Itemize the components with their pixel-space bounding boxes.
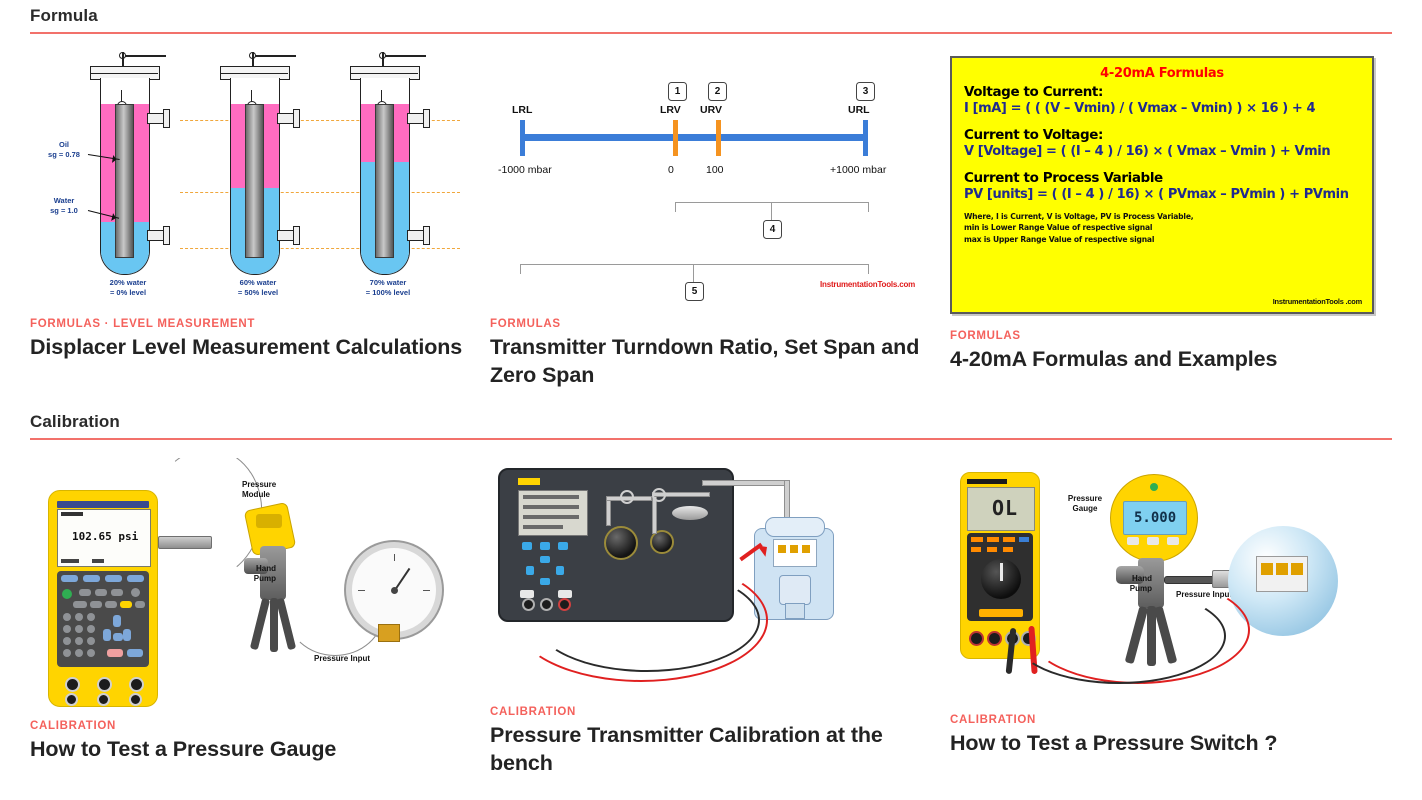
torque-arm-3 (382, 55, 426, 57)
vessel-caption-3-line1: 70% water (370, 278, 407, 287)
terminal-jack-4[interactable] (65, 693, 78, 706)
transmitter-housing-cap (765, 517, 825, 537)
terminal-screw-3 (802, 545, 810, 553)
title-420ma[interactable]: 4-20mA Formulas and Examples (950, 346, 1390, 374)
pump-leg-1 (250, 598, 270, 650)
display-softkey-1 (61, 559, 79, 563)
title-bench[interactable]: Pressure Transmitter Calibration at the … (490, 722, 930, 777)
panel-reservoir (672, 506, 708, 520)
vessel-caption-2-line1: 60% water (240, 278, 277, 287)
spacer-1 (964, 116, 1360, 127)
numpad-9[interactable] (87, 637, 95, 645)
vessel-caption-1: 20% water = 0% level (68, 278, 188, 298)
side-nozzle-cap-3 (423, 109, 430, 128)
terminal-screw-1 (778, 545, 786, 553)
card-420ma-formulas[interactable]: 4-20mA Formulas Voltage to Current: I [m… (950, 52, 1390, 374)
article-grid-page: Formula (0, 0, 1422, 800)
dmm-range-key-3[interactable] (1003, 547, 1013, 552)
calibrator-display: 102.65 psi (57, 509, 151, 567)
card-displacer-level-measurement[interactable]: 20% water = 0% level (30, 52, 470, 362)
label-pressure-module: PressureModule (242, 480, 302, 501)
numpad-dot[interactable] (75, 649, 83, 657)
numpad-6[interactable] (87, 625, 95, 633)
mode-key-3[interactable] (105, 601, 117, 608)
calibrator-brand-bar (57, 501, 149, 508)
gauge-tick-top (394, 554, 395, 561)
function-key-3[interactable] (111, 589, 123, 596)
switch-terminal-block (1256, 556, 1308, 592)
value-lrv: 0 (668, 164, 674, 176)
kicker-turndown: FORMULAS (490, 318, 930, 330)
numpad-5[interactable] (75, 625, 83, 633)
turndown-scale-diagram: 1 2 3 LRL LRV URV URL -1000 mbar (490, 52, 920, 307)
scale-line (520, 134, 868, 141)
gauge-hub (391, 587, 398, 594)
softkey-4[interactable] (127, 575, 144, 582)
numpad-8[interactable] (75, 637, 83, 645)
card-text-bench: CALIBRATION Pressure Transmitter Calibra… (490, 702, 930, 777)
dmm-model-plate (979, 609, 1023, 617)
callout-box-1: 1 (668, 82, 687, 101)
title-pressure-gauge[interactable]: How to Test a Pressure Gauge (30, 736, 470, 764)
brace-range-stem (693, 264, 694, 282)
terminal-jack-3[interactable] (129, 677, 144, 692)
dmm-func-key-2[interactable] (987, 537, 999, 542)
formula-current-to-voltage: V [Voltage] = ( (I – 4 ) / 16) × ( Vmax … (964, 144, 1360, 159)
board-title: 4-20mA Formulas (964, 66, 1360, 81)
vessel-caption-2-line2: = 50% level (238, 288, 278, 297)
terminal-jack-5[interactable] (97, 693, 110, 706)
gauge-button-3[interactable] (1167, 537, 1179, 545)
numpad-4[interactable] (63, 625, 71, 633)
kicker-pressure-switch: CALIBRATION (950, 714, 1390, 726)
callout-box-5: 5 (685, 282, 704, 301)
vessel-caption-1-line2: = 0% level (110, 288, 146, 297)
water-annotation-line1: Water (54, 196, 75, 205)
section-header-formula: Formula (30, 6, 1392, 34)
formula-current-to-pv: PV [units] = ( (I – 4 ) / 16) × ( PVmax … (964, 187, 1360, 202)
transmitter-process-connection (785, 603, 805, 619)
board-note-1: Where, I is Current, V is Voltage, PV is… (964, 211, 1360, 222)
value-lrl: -1000 mbar (498, 164, 552, 176)
displacer-diagram: 20% water = 0% level (30, 52, 460, 307)
displacer-vessel-2: 60% water = 50% level (206, 52, 310, 307)
numpad-2[interactable] (75, 613, 83, 621)
panel-display-row-3 (523, 515, 579, 519)
calibrator-keypad (57, 571, 149, 667)
thumbnail-bench-setup[interactable] (490, 458, 930, 702)
section-rule-formula (30, 32, 1392, 34)
watermark-board: InstrumentationTools .com (1273, 297, 1362, 306)
dmm-jack-2[interactable] (987, 631, 1002, 646)
panel-button-3[interactable] (558, 542, 568, 550)
vessel-neck-2 (230, 78, 280, 104)
enter-key[interactable] (127, 649, 143, 657)
numpad-sign[interactable] (87, 649, 95, 657)
function-key-1[interactable] (79, 589, 91, 596)
vessel-body-2 (230, 104, 280, 275)
top-flange-line-3 (350, 73, 418, 74)
title-pressure-switch[interactable]: How to Test a Pressure Switch ? (950, 730, 1390, 758)
title-displacer[interactable]: Displacer Level Measurement Calculations (30, 334, 470, 362)
label-pressure-gauge: PressureGauge (1062, 494, 1108, 515)
softkey-2[interactable] (83, 575, 100, 582)
supply-tube (702, 480, 790, 486)
vessel-caption-2: 60% water = 50% level (198, 278, 318, 298)
gauge-led (1150, 483, 1158, 491)
hanger-rod-top-3 (382, 52, 384, 66)
gauge-button-1[interactable] (1127, 537, 1139, 545)
dmm-brand (967, 479, 1007, 484)
brace-range (520, 264, 869, 274)
transmitter-terminal-block (773, 539, 817, 567)
label-urv: URV (700, 104, 722, 116)
brace-span-stem (771, 202, 772, 220)
vessel-caption-3: 70% water = 100% level (328, 278, 448, 298)
row-formula: 20% water = 0% level (0, 52, 1422, 392)
section-rule-calibration (30, 438, 1392, 440)
kicker-pressure-gauge: CALIBRATION (30, 720, 470, 732)
panel-port-2 (652, 488, 666, 502)
pressure-module-face (256, 514, 282, 528)
section-header-calibration: Calibration (30, 412, 1392, 440)
displacer-vessel-3: 70% water = 100% level (336, 52, 440, 307)
vessel-body-3 (360, 104, 410, 275)
terminal-jack-1[interactable] (65, 677, 80, 692)
nav-up[interactable] (113, 615, 121, 627)
hanger-rod-top-1 (122, 52, 124, 66)
module-connector (158, 536, 212, 549)
function-key-4[interactable] (131, 588, 140, 597)
water-annotation: Water sg = 1.0 (36, 196, 92, 216)
dmm-display: OL (967, 487, 1035, 531)
transmitter-body (779, 575, 811, 605)
row-calibration: 102.65 psi (0, 458, 1422, 800)
thumbnail-pressure-switch-setup[interactable]: OL (950, 458, 1390, 710)
fluke-process-calibrator: 102.65 psi (48, 490, 158, 707)
title-turndown[interactable]: Transmitter Turndown Ratio, Set Span and… (490, 334, 930, 389)
mode-key-2[interactable] (90, 601, 102, 608)
panel-port-1 (620, 490, 634, 504)
nav-down[interactable] (113, 633, 123, 641)
dmm-range-key-1[interactable] (971, 547, 981, 552)
scale-tick-urv (716, 120, 721, 156)
card-text-420ma: FORMULAS 4-20mA Formulas and Examples (950, 328, 1390, 374)
bottom-nozzle-cap-1 (163, 226, 170, 245)
gauge-button-2[interactable] (1147, 537, 1159, 545)
panel-display-row-4 (523, 525, 563, 529)
water-annotation-line2: sg = 1.0 (50, 206, 78, 215)
top-flange-line-1 (90, 73, 158, 74)
nav-left[interactable] (103, 629, 111, 641)
thumbnail-turndown-diagram[interactable]: 1 2 3 LRL LRV URV URL -1000 mbar (490, 52, 930, 314)
terminal-jack-2[interactable] (97, 677, 112, 692)
dmm-range-key-2[interactable] (987, 547, 997, 552)
vessel-caption-3-line2: = 100% level (366, 288, 410, 297)
vessel-neck-3 (360, 78, 410, 104)
brace-span (675, 202, 869, 212)
label-lrl: LRL (512, 104, 532, 116)
label-pressure-input: Pressure Input (314, 654, 370, 664)
dial-pointer (1000, 563, 1003, 581)
displacer-vessel-1: 20% water = 0% level (76, 52, 180, 307)
oil-annotation-line1: Oil (59, 140, 69, 149)
dmm-func-key-1[interactable] (971, 537, 983, 542)
board-note-3: max is Upper Range Value of respective s… (964, 234, 1360, 245)
numpad-0[interactable] (63, 649, 71, 657)
value-urv: 100 (706, 164, 724, 176)
black-test-lead (534, 568, 760, 672)
scale-end-url (863, 120, 868, 156)
formula-heading-voltage-to-current: Voltage to Current: (964, 84, 1360, 100)
bottom-nozzle-cap-3 (423, 226, 430, 245)
watermark-turndown: InstrumentationTools.com (820, 280, 915, 289)
displacer-element-3 (375, 104, 394, 258)
clear-key[interactable] (107, 649, 123, 657)
card-text-displacer: FORMULAS · LEVEL MEASUREMENT Displacer L… (30, 314, 470, 362)
numpad-7[interactable] (63, 637, 71, 645)
spacer-2 (964, 159, 1360, 170)
hanger-rod-top-2 (252, 52, 254, 66)
nav-right[interactable] (123, 629, 131, 641)
thumbnail-displacer-diagram[interactable]: 20% water = 0% level (30, 52, 470, 314)
power-button[interactable] (62, 589, 72, 599)
thumbnail-pressure-gauge-setup[interactable]: 102.65 psi (30, 458, 470, 714)
scale-tick-lrv (673, 120, 678, 156)
callout-box-3: 3 (856, 82, 875, 101)
softkey-3[interactable] (105, 575, 122, 582)
side-nozzle-cap-2 (293, 109, 300, 128)
formula-heading-current-to-pv: Current to Process Variable (964, 170, 1360, 186)
board-note-2: min is Lower Range Value of respective s… (964, 222, 1360, 233)
vessel-body-1 (100, 104, 150, 275)
display-softkey-2 (92, 559, 104, 563)
card-bench-calibration[interactable]: CALIBRATION Pressure Transmitter Calibra… (490, 458, 930, 777)
torque-arm-1 (122, 55, 166, 57)
spacer-3 (964, 202, 1360, 211)
oil-annotation: Oil sg = 0.78 (36, 140, 92, 160)
switch-black-wire (1012, 588, 1226, 684)
section-title-calibration: Calibration (30, 412, 1392, 438)
bottom-nozzle-cap-2 (293, 226, 300, 245)
card-transmitter-turndown[interactable]: 1 2 3 LRL LRV URV URL -1000 mbar (490, 52, 930, 389)
displacer-element-2 (245, 104, 264, 258)
label-url: URL (848, 104, 870, 116)
pressure-regulator-knob[interactable] (604, 526, 638, 560)
dmm-func-key-4[interactable] (1019, 537, 1029, 542)
label-lrv: LRV (660, 104, 681, 116)
torque-arm-2 (252, 55, 296, 57)
display-status-bar (61, 512, 83, 516)
value-url: +1000 mbar (830, 164, 886, 176)
side-nozzle-cap-1 (163, 109, 170, 128)
kicker-bench: CALIBRATION (490, 706, 930, 718)
displacer-element-1 (115, 104, 134, 258)
kicker-420ma: FORMULAS (950, 330, 1390, 342)
panel-display (518, 490, 588, 536)
thumbnail-420ma-board[interactable]: 4-20mA Formulas Voltage to Current: I [m… (950, 52, 1390, 328)
gauge-reading: 5.000 (1134, 510, 1176, 526)
formula-board: 4-20mA Formulas Voltage to Current: I [m… (950, 56, 1374, 314)
pressure-gauge-test-scene: 102.65 psi (30, 458, 470, 703)
panel-nav-up[interactable] (540, 556, 550, 563)
label-hand-pump: HandPump (236, 564, 276, 585)
card-test-pressure-gauge[interactable]: 102.65 psi (30, 458, 470, 764)
callout-box-2: 2 (708, 82, 727, 101)
callout-box-4: 4 (763, 220, 782, 239)
gauge-lcd: 5.000 (1123, 501, 1187, 535)
gauge-tick-right (423, 590, 430, 591)
formula-voltage-to-current: I [mA] = ( ( (V – Vmin) / ( Vmax – Vmin)… (964, 101, 1360, 116)
panel-brand (518, 478, 540, 485)
panel-button-1[interactable] (522, 542, 532, 550)
panel-display-row-1 (523, 495, 579, 499)
card-text-turndown: FORMULAS Transmitter Turndown Ratio, Set… (490, 314, 930, 389)
top-flange-line-2 (220, 73, 288, 74)
terminal-screw-2 (790, 545, 798, 553)
panel-nav-left[interactable] (526, 566, 534, 575)
card-test-pressure-switch[interactable]: OL (950, 458, 1390, 758)
card-text-pressure-switch: CALIBRATION How to Test a Pressure Switc… (950, 710, 1390, 758)
terminal-jack-6[interactable] (129, 693, 142, 706)
gauge-stem (378, 624, 400, 642)
vessel-neck-1 (100, 78, 150, 104)
dmm-rotary-dial[interactable] (981, 559, 1021, 599)
oil-annotation-line2: sg = 0.78 (48, 150, 80, 159)
function-key-2[interactable] (95, 589, 107, 596)
dmm-front-panel (967, 533, 1033, 621)
dmm-jack-1[interactable] (969, 631, 984, 646)
card-text-pressure-gauge: CALIBRATION How to Test a Pressure Gauge (30, 714, 470, 764)
switch-terminal-1 (1261, 563, 1273, 575)
switch-terminal-2 (1276, 563, 1288, 575)
vessel-caption-1-line1: 20% water (110, 278, 147, 287)
softkey-1[interactable] (61, 575, 78, 582)
mode-key-1[interactable] (73, 601, 87, 608)
switch-terminal-3 (1291, 563, 1303, 575)
calibrator-reading: 102.65 psi (72, 530, 138, 543)
kicker-displacer: FORMULAS · LEVEL MEASUREMENT (30, 318, 470, 330)
section-title-formula: Formula (30, 6, 1392, 32)
gauge-tick-left (358, 590, 365, 591)
panel-display-row-2 (523, 505, 579, 509)
formula-heading-current-to-voltage: Current to Voltage: (964, 127, 1360, 143)
mode-key-4[interactable] (120, 601, 132, 608)
pressure-switch-test-scene: OL (950, 458, 1390, 703)
numpad-1[interactable] (63, 613, 71, 621)
bench-calibration-scene (490, 458, 930, 702)
dmm-func-key-3[interactable] (1003, 537, 1015, 542)
mode-key-5[interactable] (135, 601, 145, 608)
dmm-reading: OL (992, 496, 1018, 520)
numpad-3[interactable] (87, 613, 95, 621)
digital-pressure-gauge: 5.000 (1110, 474, 1198, 562)
panel-button-2[interactable] (540, 542, 550, 550)
